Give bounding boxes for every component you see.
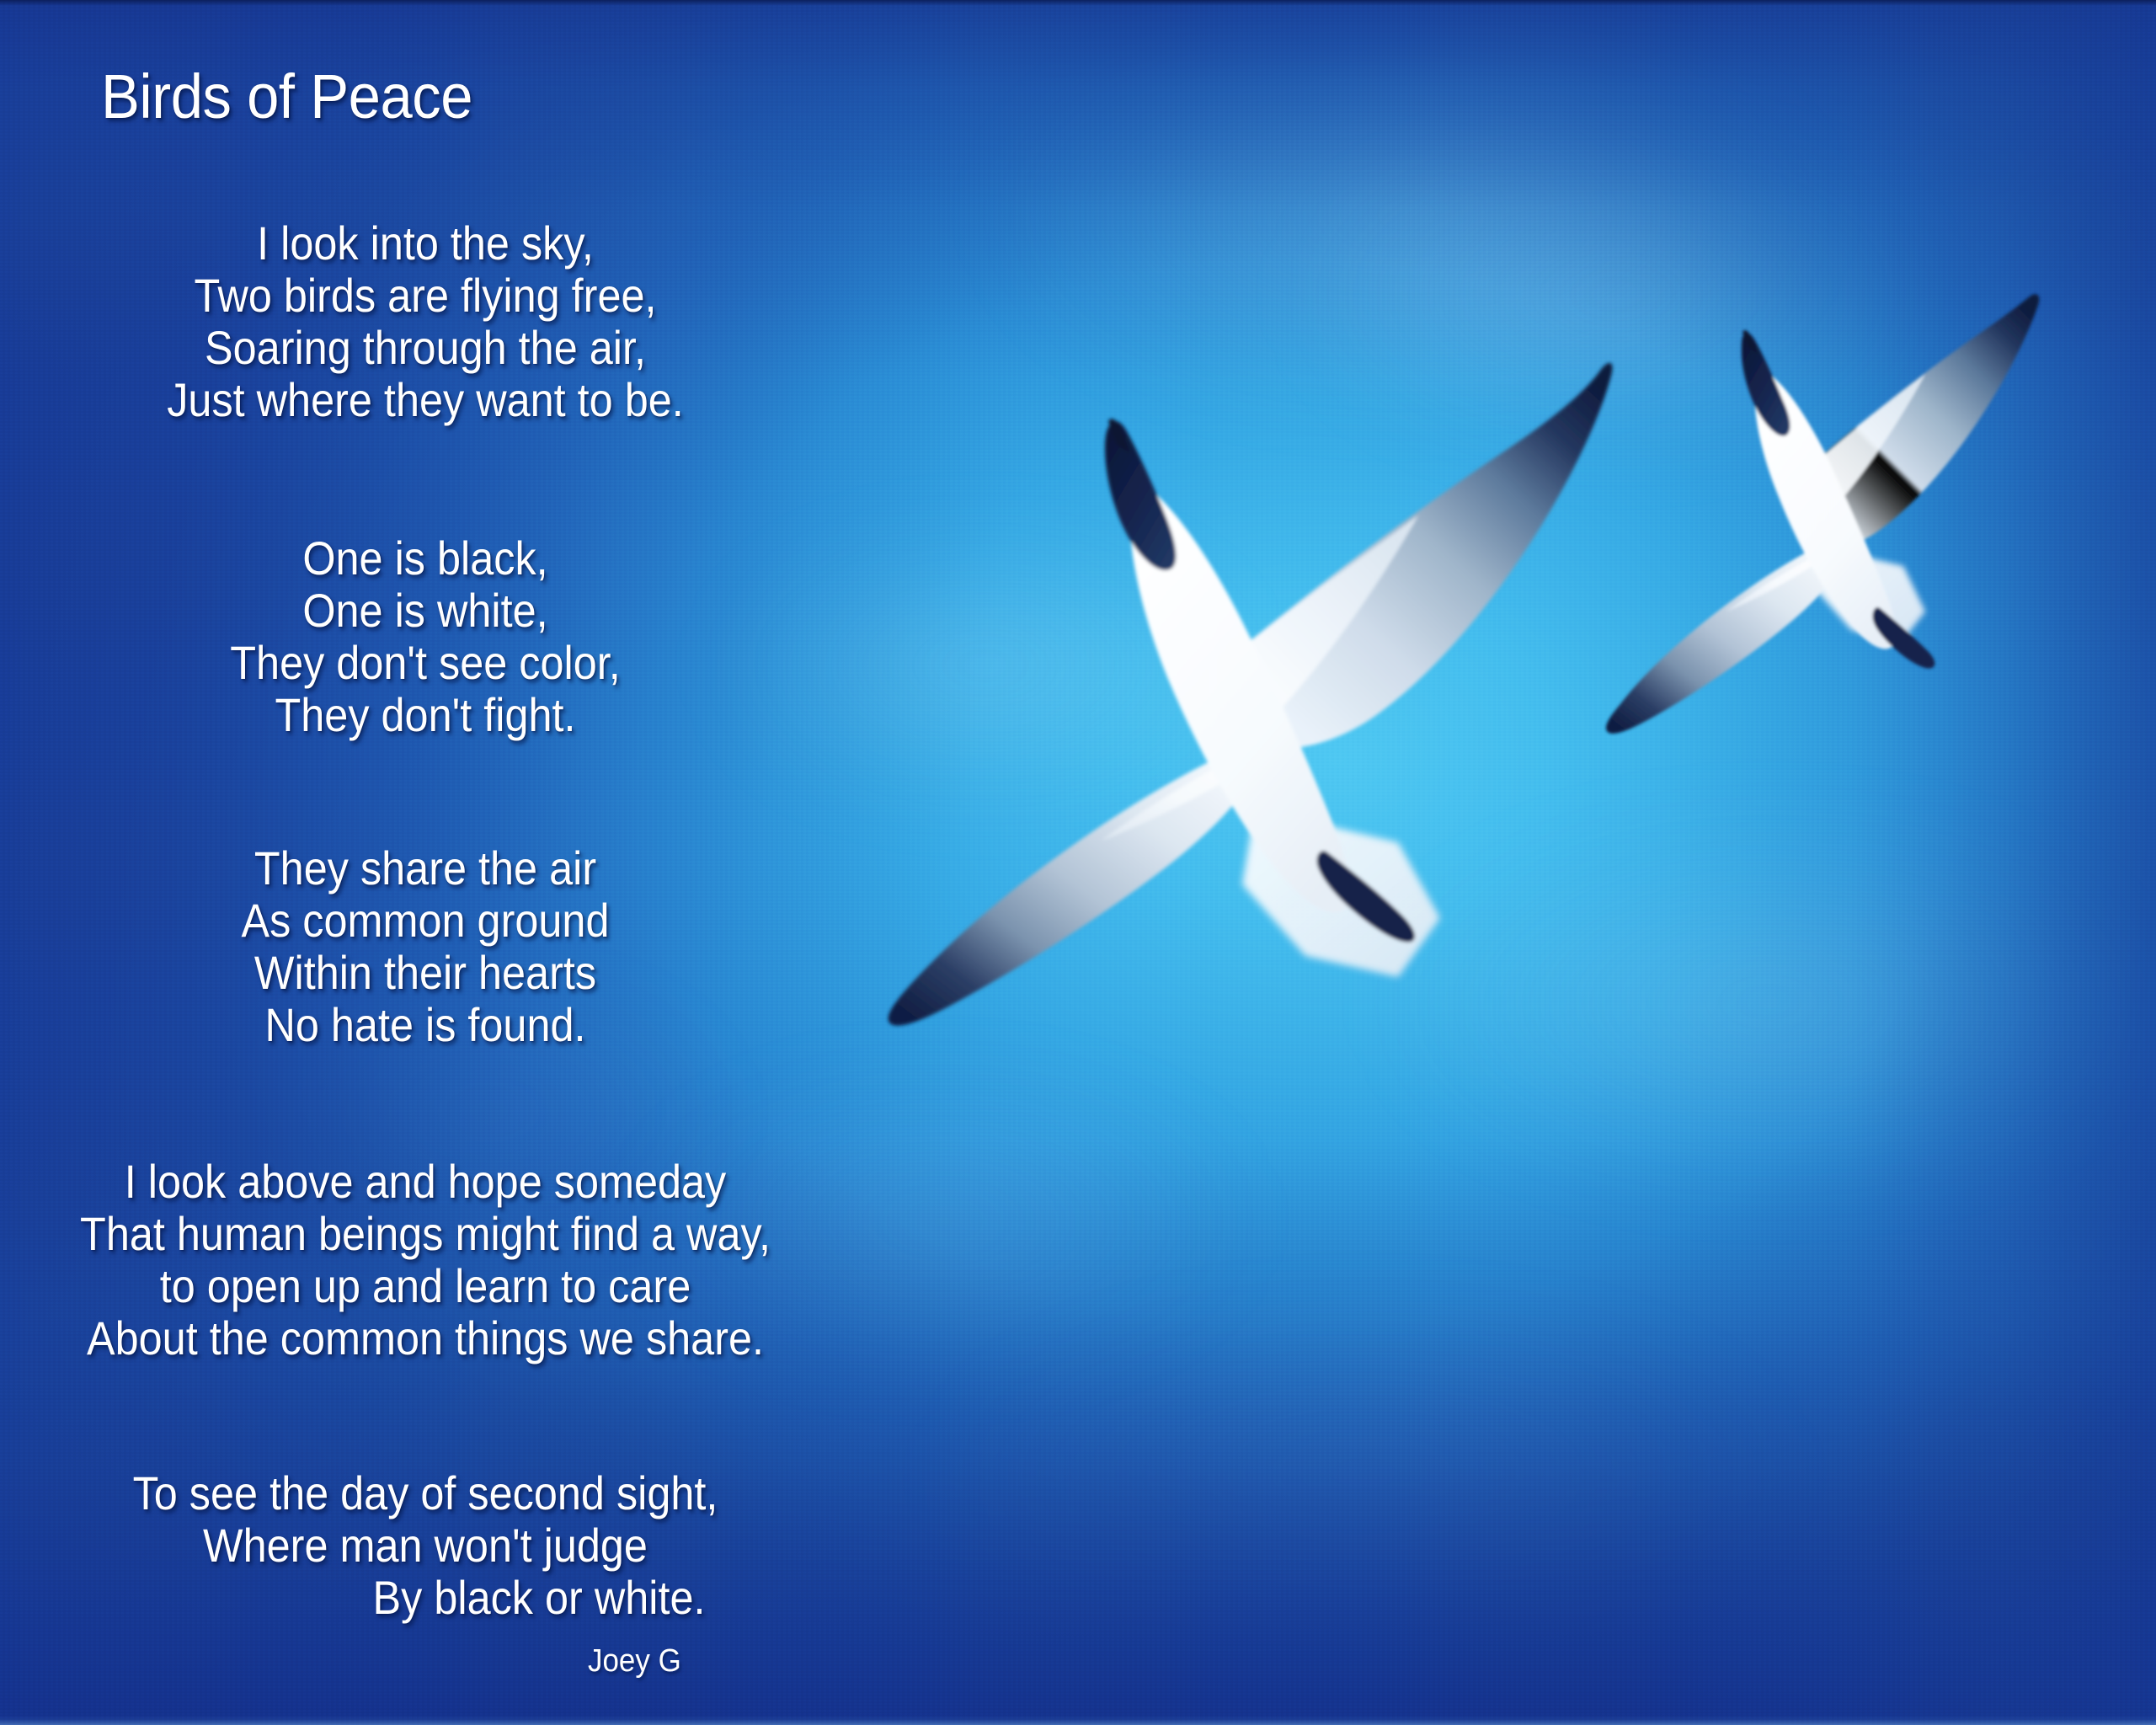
poem-line: I look above and hope someday [43,1156,808,1208]
poem-line: They don't see color, [43,637,808,689]
poem-title: Birds of Peace [101,66,472,128]
poem-line: They share the air [43,842,808,895]
poem-line: Within their hearts [43,947,808,999]
poem-line: One is black, [43,532,808,585]
poem-line: to open up and learn to care [43,1260,808,1312]
poem-signature-container: Joey G [34,1642,816,1680]
top-edge-line [0,0,2156,6]
poem-line: They don't fight. [43,689,808,741]
poem-line: One is white, [43,585,808,637]
poem-line: By black or white. [43,1572,808,1624]
small-seagull-left-wing [1606,546,1844,734]
small-seagull [1625,295,2156,817]
poem-line: I look into the sky, [43,217,808,270]
large-seagull [859,337,1668,1196]
poem-stanza-3: They share the air As common ground With… [43,842,808,1051]
poem-stanza-4: I look above and hope someday That human… [43,1156,808,1365]
poem-line: Two birds are flying free, [43,270,808,322]
poem-line: Soaring through the air, [43,322,808,374]
poem-stanza-1: I look into the sky, Two birds are flyin… [43,217,808,426]
poem-stanza-2: One is black, One is white, They don't s… [43,532,808,741]
large-seagull-right-wing [1246,363,1613,749]
large-seagull-head [1105,421,1176,570]
poster-canvas: Birds of Peace I look into the sky, Two … [0,0,2156,1725]
poem-line: As common ground [43,895,808,947]
poem-line: No hate is found. [43,999,808,1051]
poem-line: To see the day of second sight, [43,1467,808,1519]
bottom-edge-line [0,1715,2156,1725]
small-seagull-head [1742,333,1790,435]
poem-line: Where man won't judge [43,1519,808,1572]
poem-line: Just where they want to be. [43,374,808,426]
poem-line: About the common things we share. [43,1312,808,1365]
poem-stanza-5: To see the day of second sight, Where ma… [43,1467,808,1624]
poem-signature: Joey G [169,1642,681,1680]
poem-line: That human beings might find a way, [43,1208,808,1260]
